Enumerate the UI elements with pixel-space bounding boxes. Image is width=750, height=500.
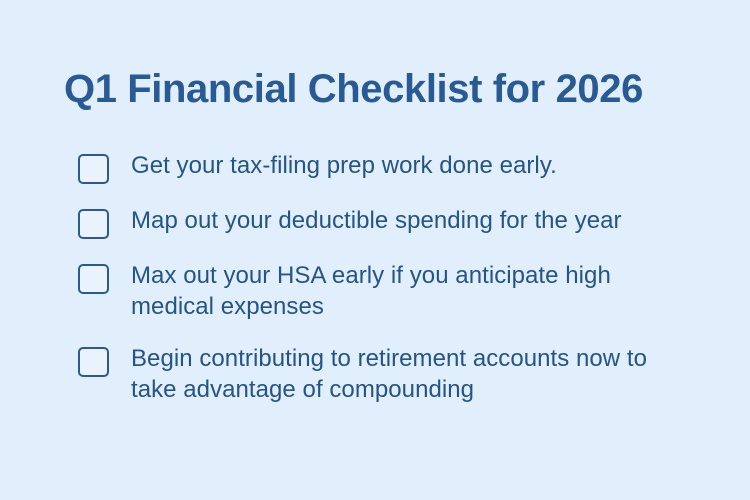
checklist-card: Q1 Financial Checklist for 2026 Get your…	[0, 0, 750, 500]
list-item-label: Max out your HSA early if you anticipate…	[131, 260, 666, 322]
list-item[interactable]: Map out your deductible spending for the…	[78, 205, 678, 239]
list-item[interactable]: Max out your HSA early if you anticipate…	[78, 260, 678, 322]
list-item[interactable]: Begin contributing to retirement account…	[78, 343, 678, 405]
list-item-label: Begin contributing to retirement account…	[131, 343, 666, 405]
checkbox-icon[interactable]	[78, 264, 109, 294]
checkbox-icon[interactable]	[78, 154, 109, 184]
checkbox-icon[interactable]	[78, 209, 109, 239]
list-item[interactable]: Get your tax-filing prep work done early…	[78, 150, 678, 184]
checkbox-icon[interactable]	[78, 347, 109, 377]
checklist: Get your tax-filing prep work done early…	[78, 150, 678, 426]
page-title: Q1 Financial Checklist for 2026	[64, 66, 643, 112]
list-item-label: Get your tax-filing prep work done early…	[131, 150, 557, 181]
list-item-label: Map out your deductible spending for the…	[131, 205, 622, 236]
